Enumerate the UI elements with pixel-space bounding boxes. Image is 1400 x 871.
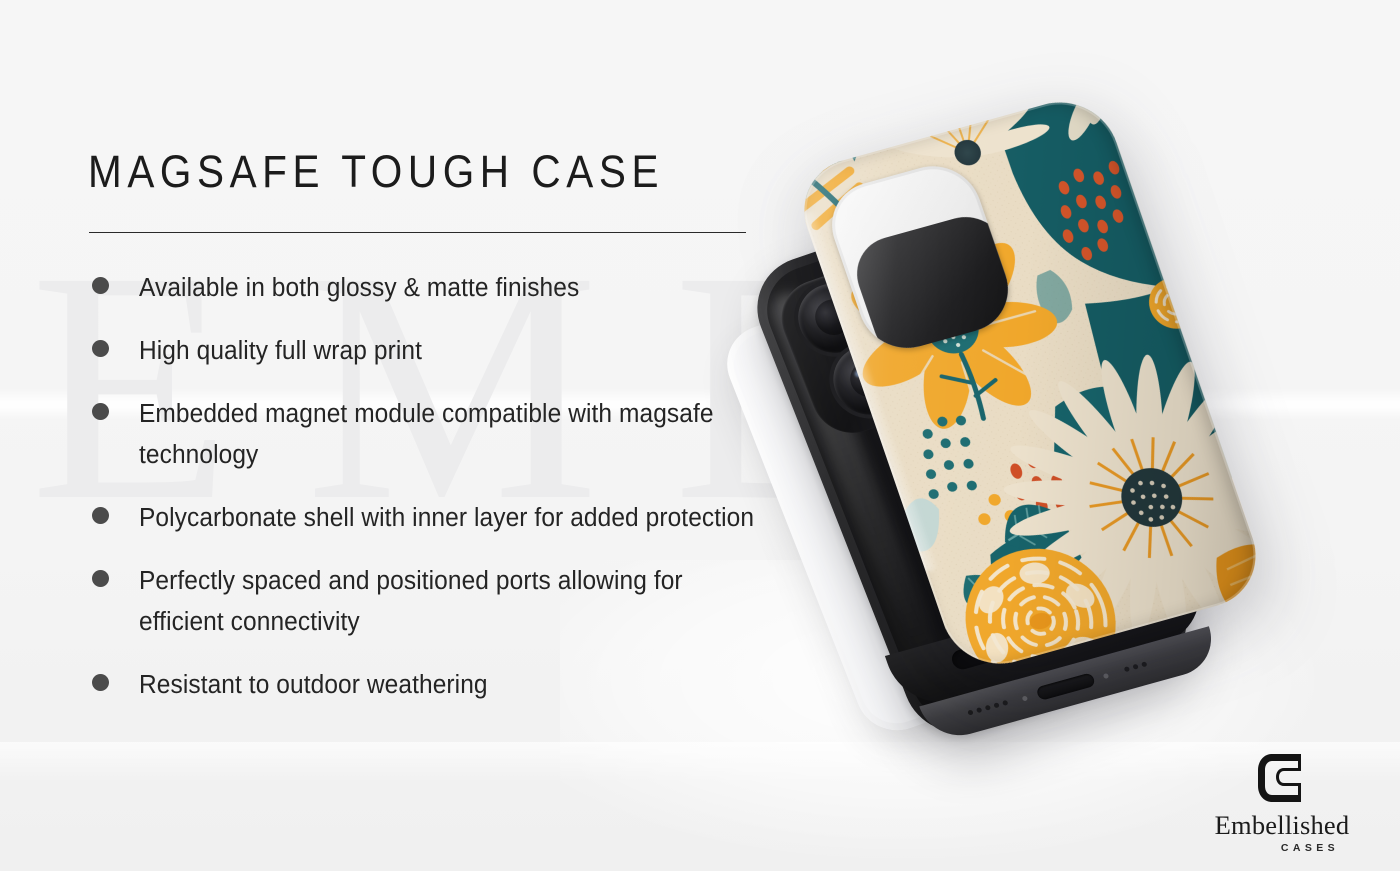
brand-logo: Embellished CASES bbox=[1198, 751, 1366, 853]
product-photo bbox=[690, 60, 1400, 820]
feature-list: Available in both glossy & matte finishe… bbox=[88, 268, 788, 728]
feature-text: Available in both glossy & matte finishe… bbox=[139, 268, 762, 309]
speaker-grille-icon bbox=[1124, 661, 1148, 672]
list-item: Perfectly spaced and positioned ports al… bbox=[88, 561, 788, 643]
bullet-dot-icon bbox=[92, 277, 109, 294]
copy-panel: MAGSAFE TOUGH CASE Available in both glo… bbox=[0, 0, 800, 871]
brand-name: Embellished bbox=[1198, 812, 1366, 839]
feature-text: Perfectly spaced and positioned ports al… bbox=[139, 561, 762, 643]
scene-background: EMBE MAGSAFE TOUGH CASE Available in bot… bbox=[0, 0, 1400, 871]
feature-text: Polycarbonate shell with inner layer for… bbox=[139, 498, 762, 539]
list-item: Available in both glossy & matte finishe… bbox=[88, 268, 788, 309]
list-item: High quality full wrap print bbox=[88, 331, 788, 372]
list-item: Resistant to outdoor weathering bbox=[88, 665, 788, 706]
title-divider bbox=[89, 232, 746, 233]
feature-text: Embedded magnet module compatible with m… bbox=[139, 394, 762, 476]
e-monogram-icon bbox=[1255, 751, 1309, 805]
speaker-grille-icon bbox=[967, 700, 1008, 716]
bullet-dot-icon bbox=[92, 340, 109, 357]
bullet-dot-icon bbox=[92, 570, 109, 587]
bullet-dot-icon bbox=[92, 674, 109, 691]
brand-tagline: CASES bbox=[1198, 843, 1366, 854]
usb-c-port-icon bbox=[1035, 672, 1096, 701]
page-title: MAGSAFE TOUGH CASE bbox=[88, 146, 664, 198]
list-item: Embedded magnet module compatible with m… bbox=[88, 394, 788, 476]
screw-icon bbox=[1103, 673, 1109, 679]
feature-text: High quality full wrap print bbox=[139, 331, 762, 372]
screw-icon bbox=[1022, 695, 1028, 701]
bullet-dot-icon bbox=[92, 403, 109, 420]
feature-text: Resistant to outdoor weathering bbox=[139, 665, 762, 706]
bullet-dot-icon bbox=[92, 507, 109, 524]
list-item: Polycarbonate shell with inner layer for… bbox=[88, 498, 788, 539]
